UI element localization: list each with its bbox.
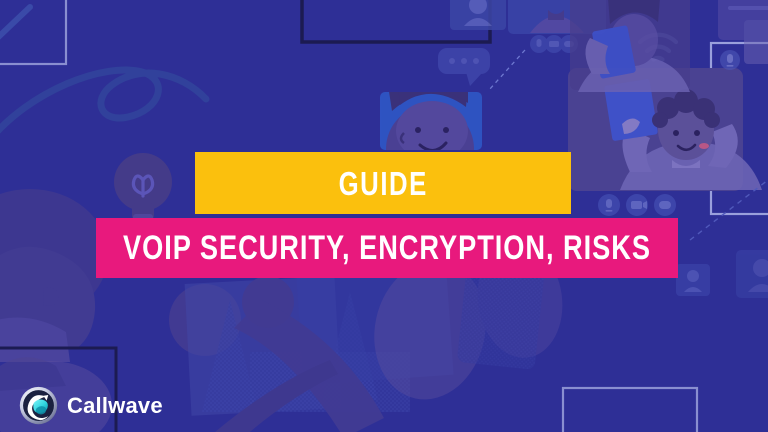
guide-banner: GUIDE xyxy=(195,152,571,214)
video-tile-person-avatar xyxy=(450,0,506,30)
callwave-swirl-icon xyxy=(19,386,58,425)
title-label: VOIP SECURITY, ENCRYPTION, RISKS xyxy=(123,231,651,265)
control-button-right xyxy=(720,50,740,70)
background-illustration xyxy=(0,0,768,432)
video-tile-person-right xyxy=(570,0,690,92)
brand-logo[interactable]: Callwave xyxy=(19,386,163,425)
brand-name: Callwave xyxy=(67,395,163,417)
video-tile-avatar-mid-right xyxy=(676,264,710,296)
guide-label: GUIDE xyxy=(338,167,427,200)
title-banner: VOIP SECURITY, ENCRYPTION, RISKS xyxy=(96,218,678,278)
blog-cover-banner: GUIDE VOIP SECURITY, ENCRYPTION, RISKS xyxy=(0,0,768,432)
call-controls-center xyxy=(598,194,676,216)
